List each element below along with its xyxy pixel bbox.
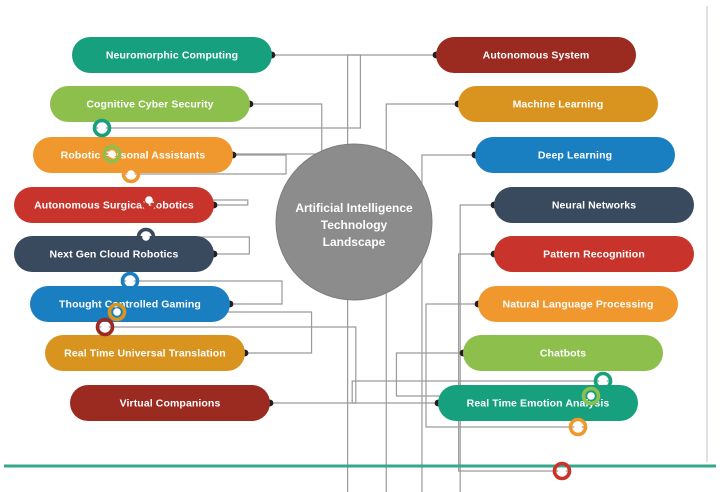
topic-label: Next Gen Cloud Robotics xyxy=(50,248,179,260)
center-label-line2: Technology xyxy=(321,218,388,232)
ring-inner xyxy=(558,467,566,475)
topic-label: Neural Networks xyxy=(552,199,636,211)
topic-node[interactable]: Autonomous System xyxy=(436,37,636,73)
topic-node[interactable]: Real Time Emotion Analysis xyxy=(438,385,638,421)
topic-node[interactable]: Neuromorphic Computing xyxy=(72,37,272,73)
topic-label: Neuromorphic Computing xyxy=(106,49,238,61)
ring-inner xyxy=(127,170,135,178)
topic-node[interactable]: Pattern Recognition xyxy=(494,236,694,272)
topic-node[interactable]: Chatbots xyxy=(463,335,663,371)
ring-inner xyxy=(142,233,150,241)
ring-inner xyxy=(113,308,121,316)
center-label-line3: Landscape xyxy=(323,235,386,249)
ring-inner xyxy=(599,377,607,385)
topic-label: Pattern Recognition xyxy=(543,248,645,260)
ring-inner xyxy=(108,150,116,158)
topic-node[interactable]: Deep Learning xyxy=(475,137,675,173)
diagram-canvas: Neuromorphic ComputingCognitive Cyber Se… xyxy=(0,0,720,492)
ring-inner xyxy=(126,277,134,285)
center-label-line1: Artificial Intelligence xyxy=(295,201,413,215)
topic-label: Autonomous Surgical Robotics xyxy=(34,199,194,211)
ring-inner xyxy=(587,392,595,400)
topic-node[interactable]: Cognitive Cyber Security xyxy=(50,86,250,122)
topic-label: Thought Controlled Gaming xyxy=(59,298,201,310)
topic-label: Machine Learning xyxy=(513,98,604,110)
topic-label: Deep Learning xyxy=(538,149,612,161)
center-node[interactable]: Artificial Intelligence Technology Lands… xyxy=(276,144,432,300)
ring-inner xyxy=(574,423,582,431)
topic-label: Real Time Universal Translation xyxy=(64,347,226,359)
topic-node[interactable]: Real Time Universal Translation xyxy=(45,335,245,371)
ring-inner xyxy=(98,124,106,132)
topic-node[interactable]: Next Gen Cloud Robotics xyxy=(14,236,214,272)
topic-label: Autonomous System xyxy=(483,49,590,61)
topic-node[interactable]: Virtual Companions xyxy=(70,385,270,421)
ai-technology-landscape-diagram: Neuromorphic ComputingCognitive Cyber Se… xyxy=(0,0,720,492)
ring-inner xyxy=(145,196,153,204)
topic-node[interactable]: Autonomous Surgical Robotics xyxy=(14,187,214,223)
topic-label: Virtual Companions xyxy=(120,397,221,409)
topic-label: Chatbots xyxy=(540,347,586,359)
topic-label: Cognitive Cyber Security xyxy=(86,98,213,110)
topic-node[interactable]: Thought Controlled Gaming xyxy=(30,286,230,322)
ring-inner xyxy=(101,323,109,331)
topic-node[interactable]: Neural Networks xyxy=(494,187,694,223)
topic-node[interactable]: Natural Language Processing xyxy=(478,286,678,322)
topic-node[interactable]: Machine Learning xyxy=(458,86,658,122)
topic-label: Natural Language Processing xyxy=(503,298,654,310)
topic-label: Robotic Personal Assistants xyxy=(61,149,206,161)
